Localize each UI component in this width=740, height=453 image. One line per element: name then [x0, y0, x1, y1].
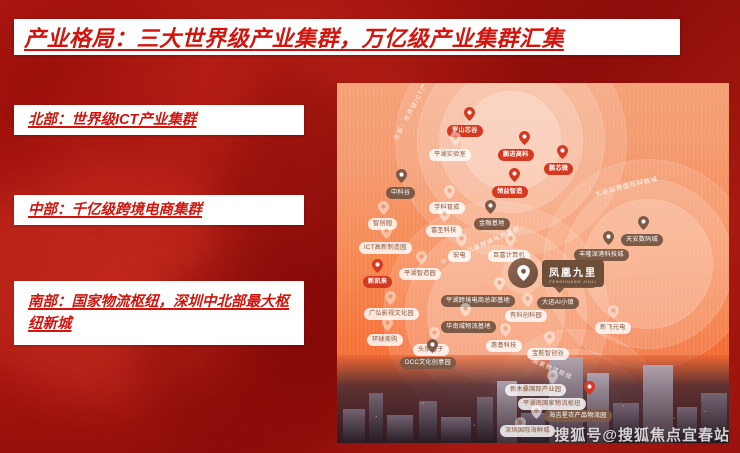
brand-name-en: FENGHUANG JIULI [549, 280, 597, 284]
map-pin-zhichuang-park[interactable] [378, 201, 389, 215]
location-pin-icon [508, 258, 538, 288]
map-pin-ict-manufacturing-park[interactable] [381, 225, 392, 239]
bullet-north: 北部：世界级ICT产业集群 [14, 105, 304, 135]
map-chip-pinghu-smart-park[interactable]: 平湖智造园 [399, 268, 441, 280]
map-pin-pinghu-smart-park[interactable] [416, 251, 427, 265]
map-chip-haijixing-agri-logistics[interactable]: 海吉星农产品物流园 [544, 410, 612, 422]
map-pin-pengjin-hightech[interactable] [519, 131, 530, 145]
map-pin-xinmusang-park[interactable] [547, 370, 558, 384]
map-pin-dcc-creative-park[interactable] [427, 339, 438, 353]
map-pin-huiji-tech[interactable] [500, 323, 511, 337]
map-chip-finance-base[interactable]: 金融基地 [474, 218, 510, 230]
map-chip-youke-innovation-park[interactable]: 有科创科园 [505, 310, 547, 322]
map-chip-hongdian[interactable]: 宏电 [448, 250, 471, 262]
map-chip-shenzhen-seafood-city[interactable]: 深圳国际海鲜城 [500, 425, 555, 437]
map-chip-zhongke-valley[interactable]: 中科谷 [386, 187, 415, 199]
map-pin-luoshan-chip-valley[interactable] [464, 107, 475, 121]
map-chip-baoneng-valley[interactable]: 宝能智创谷 [527, 348, 569, 360]
map-pin-global-mall[interactable] [382, 317, 393, 331]
map-pin-lingyi-itech[interactable] [509, 168, 520, 182]
map-pin-pax-computer[interactable] [505, 233, 516, 247]
map-pin-zhongke-valley[interactable] [396, 169, 407, 183]
bullet-south-label: 南部：国家物流枢纽，深圳中北部最大枢纽新城 [28, 291, 290, 336]
map-pin-xinfei-power[interactable] [608, 305, 619, 319]
brand-name-plate: 凤凰九里 FENGHUANG JIULI [542, 260, 604, 287]
map-pin-guanghong-film-park[interactable] [385, 291, 396, 305]
map-chip-sicarrier[interactable]: 新凯来 [363, 276, 392, 288]
map-pin-xueke-incubator[interactable] [444, 185, 455, 199]
map-chip-pinghu-lab[interactable]: 平湖实验室 [429, 149, 471, 161]
map-pin-fenglong-techcity[interactable] [603, 231, 614, 245]
map-chip-ict-manufacturing-park[interactable]: ICT高新制造园 [359, 242, 412, 254]
map-chip-dcc-creative-park[interactable]: DCC文化创意园 [400, 357, 456, 369]
map-chip-pengjin-hightech[interactable]: 鹏进高科 [498, 149, 534, 161]
map-chip-tianan-cyber-park[interactable]: 天安数码城 [621, 234, 663, 246]
bullet-mid: 中部：千亿级跨境电商集群 [14, 195, 304, 225]
map-pin-pengxin-micro[interactable] [557, 145, 568, 159]
map-pin-pinghu-lab[interactable] [450, 132, 461, 146]
map-pin-tianan-cyber-park[interactable] [638, 216, 649, 230]
map-pin-finance-base[interactable] [485, 200, 496, 214]
watermark: 搜狐号@搜狐焦点宜春站 [554, 424, 730, 445]
bullet-mid-label: 中部：千亿级跨境电商集群 [28, 199, 202, 221]
slide-title-bar: 产业格局：三大世界级产业集群，万亿级产业集群汇集 [14, 19, 680, 55]
map-chip-pinghu-ecommerce-hq[interactable]: 平湖跨境电商总部基地 [441, 295, 515, 307]
map-chip-xinfei-power[interactable]: 新飞元电 [595, 322, 631, 334]
map-pin-pinghunan-logistics-hub[interactable] [584, 381, 595, 395]
slide-background: 产业格局：三大世界级产业集群，万亿级产业集群汇集 北部：世界级ICT产业集群 中… [0, 0, 740, 453]
map-pin-sicarrier[interactable] [372, 259, 383, 273]
map-chip-huiji-tech[interactable]: 惠基科技 [486, 340, 522, 352]
map-chip-pengxin-micro[interactable]: 鹏芯微 [544, 163, 573, 175]
map-chip-huanan-city-logistics[interactable]: 华南城物流基地 [441, 321, 496, 333]
map-chip-xinmusang-park[interactable]: 新木桑国际产业园 [505, 384, 566, 396]
page-title: 产业格局：三大世界级产业集群，万亿级产业集群汇集 [24, 21, 564, 53]
bullet-south: 南部：国家物流枢纽，深圳中北部最大枢纽新城 [14, 281, 304, 345]
map-pin-pinghu-ecommerce-hq[interactable] [494, 277, 505, 291]
map-pin-hongdian[interactable] [456, 233, 467, 247]
map-pin-baoneng-valley[interactable] [544, 331, 555, 345]
map-chip-pinghunan-logistics-hub[interactable]: 平湖南国家物流枢纽 [518, 398, 586, 410]
map-pin-youke-innovation-park[interactable] [522, 293, 533, 307]
map-chip-dayun-ai-town[interactable]: 大运AI小镇 [537, 297, 579, 309]
map-pin-huanan-city-logistics[interactable] [460, 303, 471, 317]
brand-name-cn: 凤凰九里 [549, 264, 597, 279]
map-pin-fusheng-tech[interactable] [439, 208, 450, 222]
map-chip-lingyi-itech[interactable]: 领益智造 [492, 186, 528, 198]
project-brand-badge: 凤凰九里 FENGHUANG JIULI [508, 258, 604, 288]
map-pin-haijixing-agri-logistics[interactable] [531, 405, 542, 419]
map-chip-global-mall[interactable]: 环球美购 [367, 334, 403, 346]
bullet-north-label: 北部：世界级ICT产业集群 [28, 109, 196, 131]
